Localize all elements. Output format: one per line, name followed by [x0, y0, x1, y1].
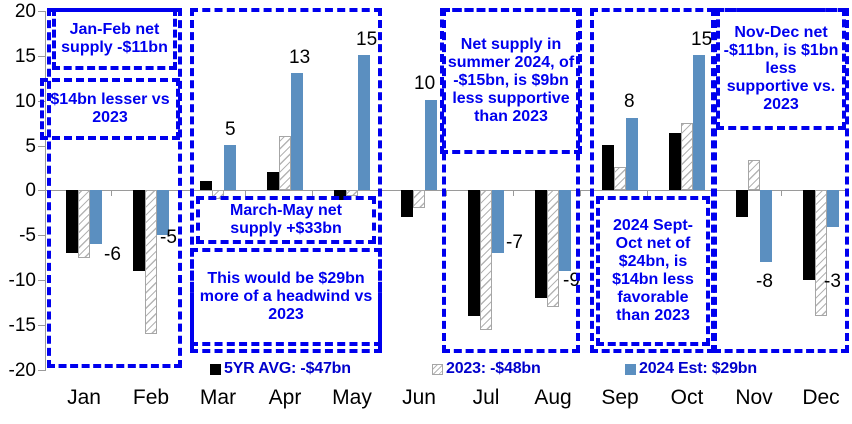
data-label-mar: 5 [225, 120, 236, 139]
bar-feb-2023 [145, 190, 157, 334]
legend-label-2023: 2023: -$48bn [446, 360, 541, 378]
data-label-dec: -3 [824, 272, 841, 291]
y-tick-label-20: 20 [0, 2, 36, 21]
legend-label-2024-est: 2024 Est: $29bn [639, 360, 757, 378]
bar-jun-2024-est [425, 100, 437, 190]
annotation-summer-net-supply: Net supply in summer 2024, of -$15bn, is… [440, 8, 582, 154]
y-tick-label-neg15: -15 [0, 316, 36, 335]
bar-nov-2024-est [760, 190, 772, 262]
annotation-jan-feb-vs-2023: $14bn lesser vs 2023 [40, 78, 180, 140]
annotation-nov-dec-net: Nov-Dec net -$11bn, is $1bn less support… [716, 8, 846, 130]
x-tick-sep-5 [379, 190, 380, 196]
x-tick-sep-2 [178, 190, 179, 196]
x-tick-sep-7 [513, 190, 514, 196]
y-tick-mark-neg10 [38, 280, 45, 281]
legend-item-5yr-avg[interactable]: 5YR AVG: -$47bn [210, 360, 351, 378]
bar-jan-2023 [78, 190, 90, 258]
y-tick-mark-neg5 [38, 235, 45, 236]
x-axis-label-may: May [317, 387, 387, 408]
bar-aug-2024-est [559, 190, 571, 271]
y-tick-mark-neg20 [38, 370, 45, 371]
bar-may-2024-est [358, 55, 370, 190]
bar-jun-2023 [413, 190, 425, 208]
blue-square-icon [625, 364, 636, 375]
y-tick-label-15: 15 [0, 47, 36, 66]
y-tick-label-neg5: -5 [0, 226, 36, 245]
x-axis-label-jul: Jul [451, 387, 521, 408]
x-axis-label-apr: Apr [250, 387, 320, 408]
bar-nov-5yr-avg [736, 190, 748, 217]
annotation-jan-feb-net-supply: Jan-Feb net supply -$11bn [52, 8, 177, 70]
data-label-sep: 8 [624, 92, 635, 111]
data-label-nov: -8 [756, 272, 773, 291]
chart-legend: 5YR AVG: -$47bn 2023: -$48bn 2024 Est: $… [210, 360, 830, 382]
bar-sep-5yr-avg [602, 145, 614, 190]
x-axis-label-feb: Feb [116, 387, 186, 408]
bar-jan-2024-est [90, 190, 102, 244]
x-axis-label-dec: Dec [786, 387, 852, 408]
bar-aug-2023 [547, 190, 559, 307]
bar-feb-5yr-avg [133, 190, 145, 271]
bar-apr-2023 [279, 136, 291, 190]
y-tick-label-neg20: -20 [0, 361, 36, 380]
hatched-square-icon [432, 364, 443, 375]
x-tick-sep-1 [111, 190, 112, 196]
y-tick-mark-0 [38, 190, 45, 191]
legend-label-5yr-avg: 5YR AVG: -$47bn [224, 360, 351, 378]
data-label-feb: -5 [160, 228, 177, 247]
bar-dec-2024-est [827, 190, 839, 227]
bar-sep-2023 [614, 167, 626, 190]
legend-item-2024-est[interactable]: 2024 Est: $29bn [625, 360, 757, 378]
data-label-jul: -7 [506, 233, 523, 252]
annotation-mar-may-net-supply: March-May net supply +$33bn [196, 196, 376, 244]
x-axis-label-mar: Mar [183, 387, 253, 408]
x-axis-label-aug: Aug [518, 387, 588, 408]
bar-sep-2024-est [626, 118, 638, 190]
bar-apr-5yr-avg [267, 172, 279, 190]
bar-oct-2023 [681, 123, 693, 190]
y-tick-label-10: 10 [0, 92, 36, 111]
x-axis-label-sep: Sep [585, 387, 655, 408]
annotation-sep-oct-net: 2024 Sept-Oct net of $24bn, is $14bn les… [596, 196, 710, 346]
data-label-may: 15 [356, 30, 377, 49]
y-tick-label-0: 0 [0, 181, 36, 200]
bar-nov-2023 [748, 160, 760, 190]
bar-jan-5yr-avg [66, 190, 78, 253]
data-label-apr: 13 [289, 48, 310, 67]
data-label-aug: -9 [563, 271, 580, 290]
x-tick-sep-6 [446, 190, 447, 196]
bar-mar-2024-est [224, 145, 236, 190]
x-tick-sep-11 [781, 190, 782, 196]
x-axis-label-oct: Oct [652, 387, 722, 408]
annotation-mar-may-headwind: This would be $29bn more of a headwind v… [190, 248, 382, 346]
x-axis-label-nov: Nov [719, 387, 789, 408]
bar-apr-2024-est [291, 73, 303, 190]
bar-mar-5yr-avg [200, 181, 212, 190]
bar-oct-5yr-avg [669, 133, 681, 190]
bar-jun-5yr-avg [401, 190, 413, 217]
bar-jul-5yr-avg [468, 190, 480, 316]
net-supply-bar-chart: 20 15 10 5 0 -5 -10 -15 -20 -6 -5 5 13 [0, 0, 852, 424]
data-label-jun: 10 [414, 74, 435, 93]
bar-jul-2023 [480, 190, 492, 330]
y-tick-label-5: 5 [0, 137, 36, 156]
data-label-jan: -6 [104, 245, 121, 264]
y-tick-mark-neg15 [38, 325, 45, 326]
x-axis-label-jan: Jan [49, 387, 119, 408]
bar-dec-5yr-avg [803, 190, 815, 280]
x-axis-label-jun: Jun [384, 387, 454, 408]
x-tick-sep-8 [580, 190, 581, 196]
y-axis-line [45, 11, 46, 371]
y-tick-mark-5 [38, 146, 45, 147]
bar-oct-2024-est [693, 55, 705, 190]
y-tick-mark-20 [38, 11, 45, 12]
black-square-icon [210, 364, 221, 375]
y-tick-mark-15 [38, 56, 45, 57]
y-tick-label-neg10: -10 [0, 271, 36, 290]
bar-jul-2024-est [492, 190, 504, 253]
data-label-oct: 15 [691, 30, 712, 49]
bar-aug-5yr-avg [535, 190, 547, 298]
bar-dec-2023 [815, 190, 827, 316]
legend-item-2023[interactable]: 2023: -$48bn [432, 360, 541, 378]
x-tick-sep-10 [714, 190, 715, 196]
